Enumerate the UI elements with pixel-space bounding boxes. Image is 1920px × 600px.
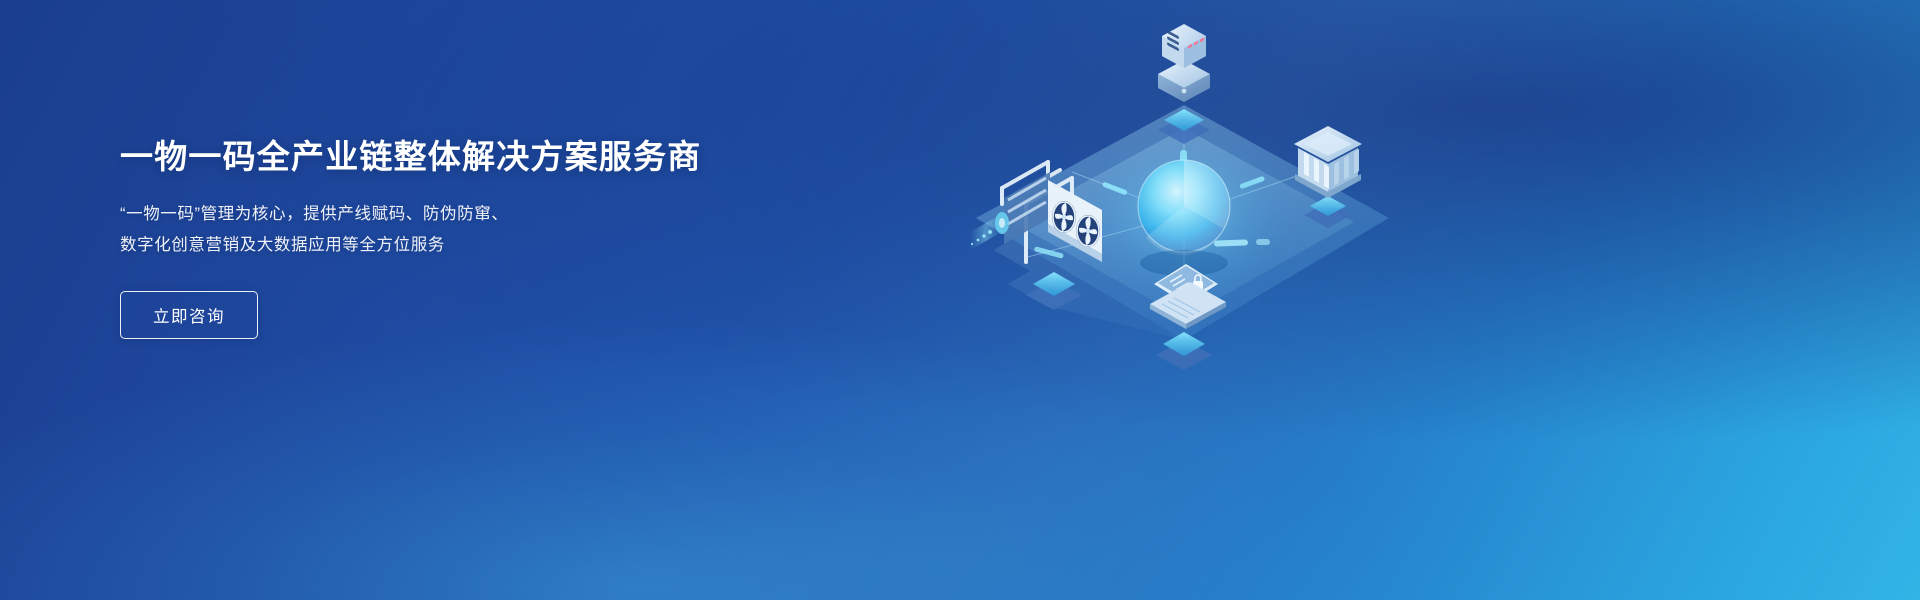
hero-subtitle: “一物一码”管理为核心，提供产线赋码、防伪防窜、 数字化创意营销及大数据应用等全… <box>120 199 840 261</box>
fan-blade-icon <box>1076 215 1100 247</box>
isometric-illustration <box>884 10 1464 440</box>
fan-blade-icon <box>1052 201 1076 233</box>
hero-subtitle-line-2: 数字化创意营销及大数据应用等全方位服务 <box>120 230 840 261</box>
page-title: 一物一码全产业链整体解决方案服务商 <box>120 136 840 177</box>
consult-now-button[interactable]: 立即咨询 <box>120 291 258 339</box>
hero-subtitle-line-1: “一物一码”管理为核心，提供产线赋码、防伪防窜、 <box>120 199 840 230</box>
hero-banner: 一物一码全产业链整体解决方案服务商 “一物一码”管理为核心，提供产线赋码、防伪防… <box>0 0 1920 600</box>
pos-terminal-icon <box>1158 24 1210 102</box>
hero-copy: 一物一码全产业链整体解决方案服务商 “一物一码”管理为核心，提供产线赋码、防伪防… <box>120 136 840 339</box>
